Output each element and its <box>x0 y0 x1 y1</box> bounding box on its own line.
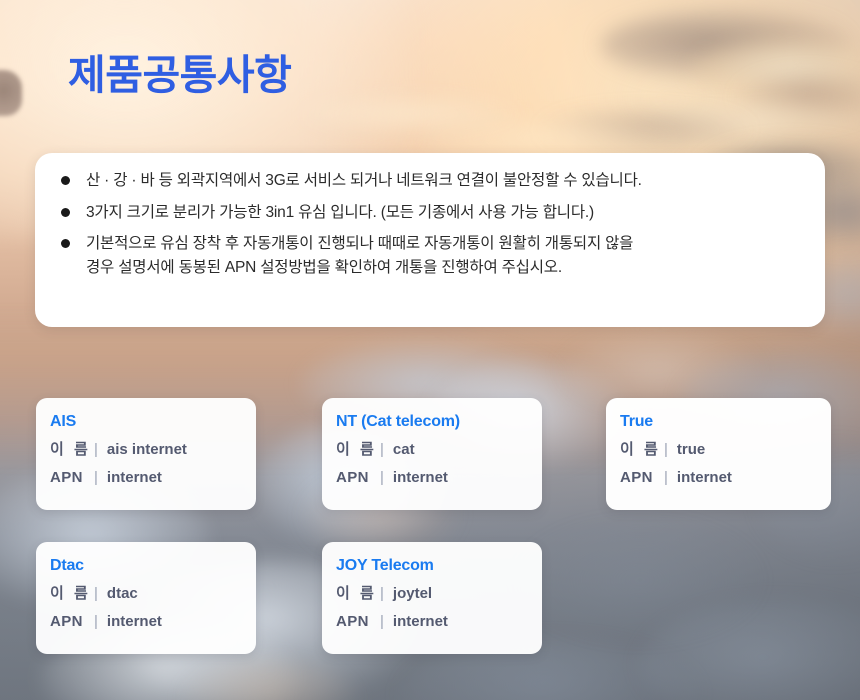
apn-label: APN <box>336 608 378 637</box>
carrier-title: NT (Cat telecom) <box>336 412 542 433</box>
carrier-title: JOY Telecom <box>336 556 542 577</box>
apn-value: internet <box>107 464 162 493</box>
name-value: ais internet <box>107 436 187 465</box>
bullet-icon <box>61 239 70 248</box>
name-label: 이 름 <box>336 436 378 465</box>
separator-glyph: | <box>378 436 393 465</box>
notice-list: 산 · 강 · 바 등 외곽지역에서 3G로 서비스 되거나 네트워크 연결이 … <box>59 169 801 279</box>
page-title: 제품공통사항 <box>68 52 291 99</box>
carrier-apn-row: APN | internet <box>620 464 831 493</box>
carrier-name-row: 이 름 | dtac <box>50 580 256 609</box>
carrier-card[interactable]: True 이 름 | true APN | internet <box>606 398 831 510</box>
carrier-title: True <box>620 412 831 433</box>
name-label: 이 름 <box>620 436 662 465</box>
separator-glyph: | <box>378 580 393 609</box>
apn-label: APN <box>50 608 92 637</box>
carrier-apn-row: APN | internet <box>336 608 542 637</box>
apn-value: internet <box>677 464 732 493</box>
carrier-card[interactable]: AIS 이 름 | ais internet APN | internet <box>36 398 256 510</box>
carrier-name-row: 이 름 | joytel <box>336 580 542 609</box>
separator-glyph: | <box>92 580 107 609</box>
apn-label: APN <box>336 464 378 493</box>
carrier-apn-row: APN | internet <box>50 608 256 637</box>
carrier-name-row: 이 름 | true <box>620 436 831 465</box>
notice-item: 3가지 크기로 분리가 가능한 3in1 유심 입니다. (모든 기종에서 사용… <box>59 201 801 225</box>
separator-glyph: | <box>92 464 107 493</box>
carrier-apn-row: APN | internet <box>336 464 542 493</box>
notice-item-line: 경우 설명서에 동봉된 APN 설정방법을 확인하여 개통을 진행하여 주십시오… <box>86 256 801 280</box>
bullet-icon <box>61 176 70 185</box>
separator-glyph: | <box>378 608 393 637</box>
apn-value: internet <box>107 608 162 637</box>
carrier-card[interactable]: JOY Telecom 이 름 | joytel APN | internet <box>322 542 542 654</box>
carrier-apn-row: APN | internet <box>50 464 256 493</box>
notice-item: 산 · 강 · 바 등 외곽지역에서 3G로 서비스 되거나 네트워크 연결이 … <box>59 169 801 193</box>
bullet-icon <box>61 208 70 217</box>
carrier-title: AIS <box>50 412 256 433</box>
carrier-card[interactable]: Dtac 이 름 | dtac APN | internet <box>36 542 256 654</box>
name-label: 이 름 <box>336 580 378 609</box>
notice-item-line: 산 · 강 · 바 등 외곽지역에서 3G로 서비스 되거나 네트워크 연결이 … <box>86 172 642 189</box>
notice-panel: 산 · 강 · 바 등 외곽지역에서 3G로 서비스 되거나 네트워크 연결이 … <box>35 153 825 327</box>
separator-glyph: | <box>92 436 107 465</box>
carrier-name-row: 이 름 | ais internet <box>50 436 256 465</box>
separator-glyph: | <box>378 464 393 493</box>
notice-item: 기본적으로 유심 장착 후 자동개통이 진행되나 때때로 자동개통이 원활히 개… <box>59 232 801 279</box>
apn-label: APN <box>50 464 92 493</box>
apn-value: internet <box>393 464 448 493</box>
name-value: cat <box>393 436 415 465</box>
notice-item-line: 3가지 크기로 분리가 가능한 3in1 유심 입니다. (모든 기종에서 사용… <box>86 204 594 221</box>
name-value: joytel <box>393 580 432 609</box>
carrier-card[interactable]: NT (Cat telecom) 이 름 | cat APN | interne… <box>322 398 542 510</box>
name-label: 이 름 <box>50 580 92 609</box>
carrier-name-row: 이 름 | cat <box>336 436 542 465</box>
separator-glyph: | <box>92 608 107 637</box>
name-value: true <box>677 436 705 465</box>
apn-value: internet <box>393 608 448 637</box>
notice-item-line: 기본적으로 유심 장착 후 자동개통이 진행되나 때때로 자동개통이 원활히 개… <box>86 235 633 252</box>
name-value: dtac <box>107 580 138 609</box>
carrier-title: Dtac <box>50 556 256 577</box>
apn-label: APN <box>620 464 662 493</box>
name-label: 이 름 <box>50 436 92 465</box>
separator-glyph: | <box>662 464 677 493</box>
separator-glyph: | <box>662 436 677 465</box>
